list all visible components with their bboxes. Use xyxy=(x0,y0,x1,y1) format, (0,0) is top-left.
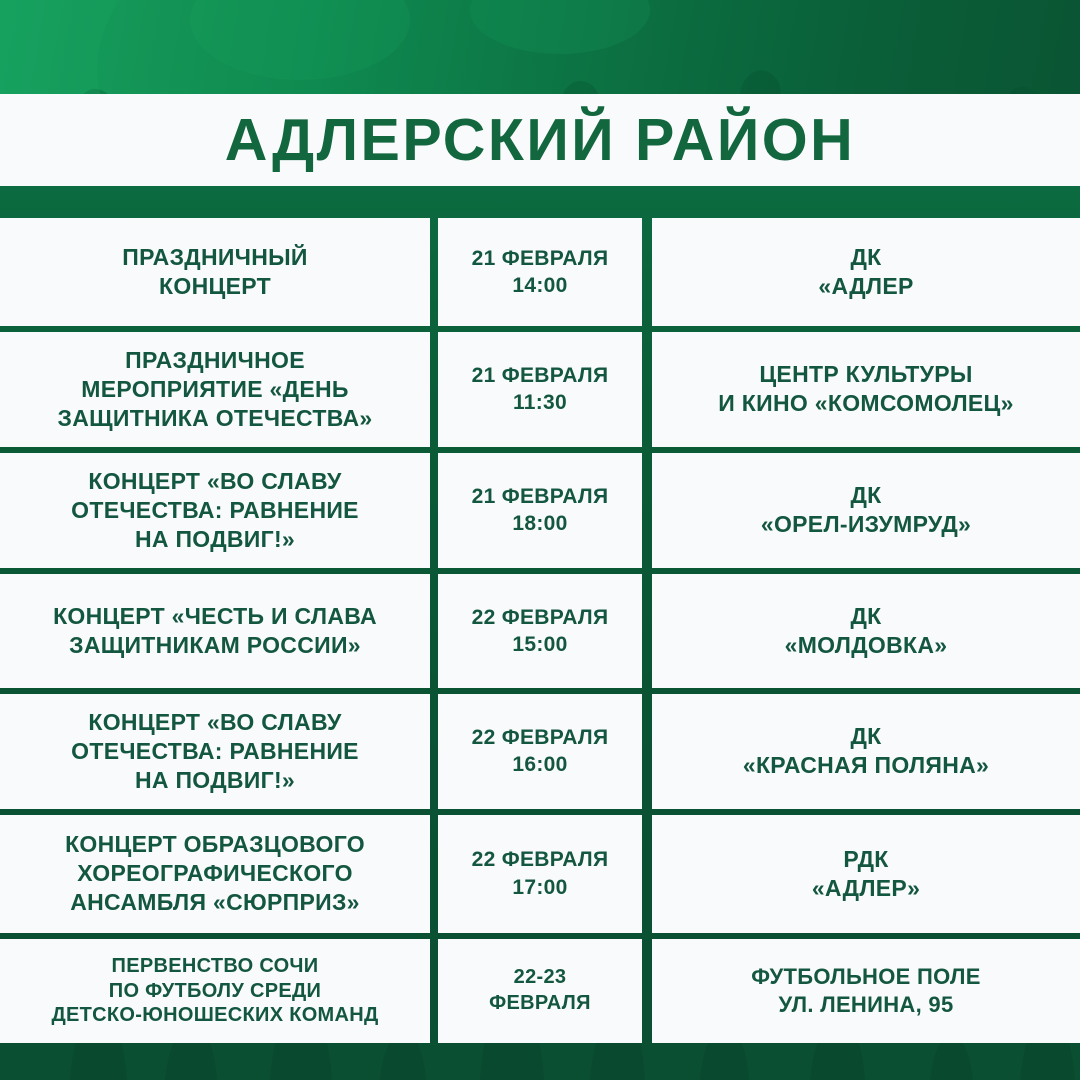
date-line: ФЕВРАЛЯ xyxy=(489,991,591,1017)
event-line: МЕРОПРИЯТИЕ «ДЕНЬ xyxy=(58,375,373,404)
event-line: КОНЦЕРТ «ВО СЛАВУ xyxy=(71,708,359,737)
column-divider xyxy=(430,939,438,1043)
venue-cell: ДК «МОЛДОВКА» xyxy=(652,574,1080,688)
time-line: 17:00 xyxy=(472,874,609,901)
venue-line: ДК xyxy=(743,722,989,751)
venue-cell: РДК «АДЛЕР» xyxy=(652,815,1080,933)
venue-line: «АДЛЕР xyxy=(818,272,913,301)
venue-line: УЛ. ЛЕНИНА, 95 xyxy=(751,991,980,1018)
venue-line: «ОРЕЛ-ИЗУМРУД» xyxy=(761,510,971,539)
event-line: КОНЦЕРТ ОБРАЗЦОВОГО xyxy=(65,830,365,859)
date-cell: 22 ФЕВРАЛЯ 17:00 xyxy=(438,815,642,933)
date-cell: 22 ФЕВРАЛЯ 16:00 xyxy=(438,694,642,809)
event-cell: ПЕРВЕНСТВО СОЧИ ПО ФУТБОЛУ СРЕДИ ДЕТСКО-… xyxy=(0,939,430,1043)
venue-line: И КИНО «КОМСОМОЛЕЦ» xyxy=(718,389,1013,418)
date-cell: 21 ФЕВРАЛЯ 14:00 xyxy=(438,218,642,326)
venue-cell: ДК «КРАСНАЯ ПОЛЯНА» xyxy=(652,694,1080,809)
event-cell: КОНЦЕРТ «ЧЕСТЬ И СЛАВА ЗАЩИТНИКАМ РОССИИ… xyxy=(0,574,430,688)
table-row: КОНЦЕРТ «ВО СЛАВУ ОТЕЧЕСТВА: РАВНЕНИЕ НА… xyxy=(0,453,1080,568)
event-line: АНСАМБЛЯ «СЮРПРИЗ» xyxy=(65,888,365,917)
column-divider xyxy=(430,218,438,326)
venue-line: «МОЛДОВКА» xyxy=(785,631,948,660)
date-line: 22 ФЕВРАЛЯ xyxy=(472,724,609,751)
date-cell: 21 ФЕВРАЛЯ 11:30 xyxy=(438,332,642,447)
poster-root: АДЛЕРСКИЙ РАЙОН ПРАЗДНИЧНЫЙ КОНЦЕРТ 21 Ф… xyxy=(0,0,1080,1080)
venue-line: «АДЛЕР» xyxy=(812,874,920,903)
event-line: ОТЕЧЕСТВА: РАВНЕНИЕ xyxy=(71,496,359,525)
venue-line: ДК xyxy=(761,481,971,510)
date-cell: 21 ФЕВРАЛЯ 18:00 xyxy=(438,453,642,568)
event-line: ОТЕЧЕСТВА: РАВНЕНИЕ xyxy=(71,737,359,766)
event-line: КОНЦЕРТ «ВО СЛАВУ xyxy=(71,467,359,496)
column-divider xyxy=(430,574,438,688)
date-line: 21 ФЕВРАЛЯ xyxy=(472,245,609,272)
table-row: ПРАЗДНИЧНОЕ МЕРОПРИЯТИЕ «ДЕНЬ ЗАЩИТНИКА … xyxy=(0,332,1080,447)
venue-cell: ЦЕНТР КУЛЬТУРЫ И КИНО «КОМСОМОЛЕЦ» xyxy=(652,332,1080,447)
column-divider xyxy=(642,453,652,568)
date-line: 21 ФЕВРАЛЯ xyxy=(472,362,609,389)
event-line: ЗАЩИТНИКАМ РОССИИ» xyxy=(53,631,377,660)
date-line: 21 ФЕВРАЛЯ xyxy=(472,483,609,510)
table-row: КОНЦЕРТ ОБРАЗЦОВОГО ХОРЕОГРАФИЧЕСКОГО АН… xyxy=(0,815,1080,933)
date-line: 22-23 xyxy=(489,965,591,991)
column-divider xyxy=(642,218,652,326)
column-divider xyxy=(430,332,438,447)
date-cell: 22 ФЕВРАЛЯ 15:00 xyxy=(438,574,642,688)
table-row: КОНЦЕРТ «ВО СЛАВУ ОТЕЧЕСТВА: РАВНЕНИЕ НА… xyxy=(0,694,1080,809)
column-divider xyxy=(430,815,438,933)
time-line: 18:00 xyxy=(472,510,609,537)
venue-line: «КРАСНАЯ ПОЛЯНА» xyxy=(743,751,989,780)
table-row: КОНЦЕРТ «ЧЕСТЬ И СЛАВА ЗАЩИТНИКАМ РОССИИ… xyxy=(0,574,1080,688)
time-line: 15:00 xyxy=(472,631,609,658)
event-cell: КОНЦЕРТ «ВО СЛАВУ ОТЕЧЕСТВА: РАВНЕНИЕ НА… xyxy=(0,694,430,809)
event-cell: ПРАЗДНИЧНОЕ МЕРОПРИЯТИЕ «ДЕНЬ ЗАЩИТНИКА … xyxy=(0,332,430,447)
page-title: АДЛЕРСКИЙ РАЙОН xyxy=(225,111,855,170)
time-line: 11:30 xyxy=(472,389,609,416)
date-line: 22 ФЕВРАЛЯ xyxy=(472,846,609,873)
event-cell: КОНЦЕРТ ОБРАЗЦОВОГО ХОРЕОГРАФИЧЕСКОГО АН… xyxy=(0,815,430,933)
column-divider xyxy=(642,574,652,688)
venue-line: РДК xyxy=(812,845,920,874)
column-divider xyxy=(642,939,652,1043)
venue-line: ДК xyxy=(818,243,913,272)
table-row: ПРАЗДНИЧНЫЙ КОНЦЕРТ 21 ФЕВРАЛЯ 14:00 ДК … xyxy=(0,218,1080,326)
event-line: ХОРЕОГРАФИЧЕСКОГО xyxy=(65,859,365,888)
time-line: 14:00 xyxy=(472,272,609,299)
date-line: 22 ФЕВРАЛЯ xyxy=(472,604,609,631)
schedule-table: ПРАЗДНИЧНЫЙ КОНЦЕРТ 21 ФЕВРАЛЯ 14:00 ДК … xyxy=(0,218,1080,1043)
event-line: ПРАЗДНИЧНОЕ xyxy=(58,346,373,375)
venue-cell: ФУТБОЛЬНОЕ ПОЛЕ УЛ. ЛЕНИНА, 95 xyxy=(652,939,1080,1043)
table-row: ПЕРВЕНСТВО СОЧИ ПО ФУТБОЛУ СРЕДИ ДЕТСКО-… xyxy=(0,939,1080,1043)
event-line: ПЕРВЕНСТВО СОЧИ xyxy=(51,954,378,978)
event-line: ПРАЗДНИЧНЫЙ xyxy=(122,243,308,272)
column-divider xyxy=(430,453,438,568)
column-divider xyxy=(642,332,652,447)
event-line: НА ПОДВИГ!» xyxy=(71,766,359,795)
venue-cell: ДК «АДЛЕР xyxy=(652,218,1080,326)
venue-line: ЦЕНТР КУЛЬТУРЫ xyxy=(718,360,1013,389)
event-line: ЗАЩИТНИКА ОТЕЧЕСТВА» xyxy=(58,404,373,433)
time-line: 16:00 xyxy=(472,751,609,778)
event-line: ПО ФУТБОЛУ СРЕДИ xyxy=(51,979,378,1003)
title-banner: АДЛЕРСКИЙ РАЙОН xyxy=(0,94,1080,186)
column-divider xyxy=(642,694,652,809)
column-divider xyxy=(430,694,438,809)
event-line: НА ПОДВИГ!» xyxy=(71,525,359,554)
venue-cell: ДК «ОРЕЛ-ИЗУМРУД» xyxy=(652,453,1080,568)
event-cell: ПРАЗДНИЧНЫЙ КОНЦЕРТ xyxy=(0,218,430,326)
event-line: КОНЦЕРТ «ЧЕСТЬ И СЛАВА xyxy=(53,602,377,631)
venue-line: ФУТБОЛЬНОЕ ПОЛЕ xyxy=(751,963,980,990)
event-line: ДЕТСКО-ЮНОШЕСКИХ КОМАНД xyxy=(51,1003,378,1027)
event-cell: КОНЦЕРТ «ВО СЛАВУ ОТЕЧЕСТВА: РАВНЕНИЕ НА… xyxy=(0,453,430,568)
venue-line: ДК xyxy=(785,602,948,631)
date-cell: 22-23 ФЕВРАЛЯ xyxy=(438,939,642,1043)
event-line: КОНЦЕРТ xyxy=(122,272,308,301)
column-divider xyxy=(642,815,652,933)
